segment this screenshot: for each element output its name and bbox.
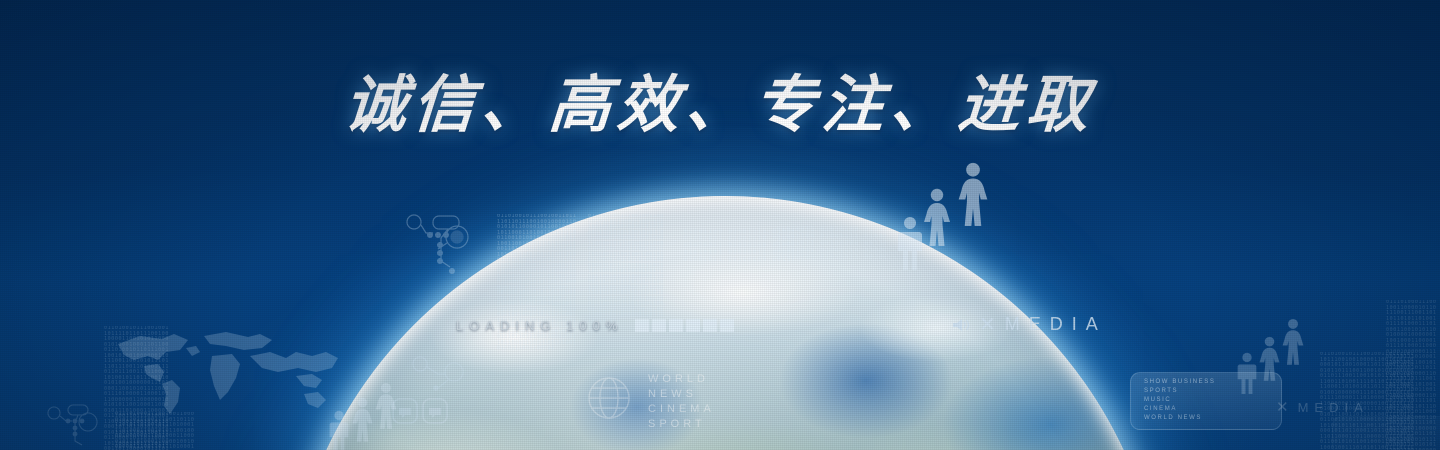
- page-title: 诚信、高效、专注、进取: [0, 54, 1440, 144]
- category-item[interactable]: SPORTS: [1144, 387, 1215, 396]
- category-item[interactable]: CINEMA: [1144, 405, 1215, 414]
- globe-overlay-text: WORLD NEWS CINEMA SPORT: [648, 372, 715, 432]
- overlay-line-news: NEWS: [648, 387, 715, 402]
- overlay-line-world: WORLD: [648, 372, 715, 387]
- world-map-silhouette: [100, 322, 350, 418]
- loading-label: LOADING 100%: [456, 318, 623, 333]
- overlay-line-sport: SPORT: [648, 417, 715, 432]
- loading-progress-bar: [635, 319, 734, 332]
- progress-segment: [669, 319, 683, 332]
- overlay-line-cinema: CINEMA: [648, 402, 715, 417]
- globe-grid-icon: [586, 375, 632, 421]
- progress-segment: [635, 319, 649, 332]
- hero-banner: 0110100101110010011011110110111001001000…: [0, 0, 1440, 450]
- category-item[interactable]: SHOW BUSINESS: [1144, 378, 1215, 387]
- progress-segment: [652, 319, 666, 332]
- category-item[interactable]: WORLD NEWS: [1144, 414, 1215, 423]
- x-mark-icon: ✕: [979, 312, 996, 337]
- loading-indicator: LOADING 100%: [456, 318, 734, 333]
- progress-segment: [703, 319, 717, 332]
- media-label: MEDIA: [1005, 314, 1107, 335]
- progress-segment: [720, 319, 734, 332]
- media-watermark: ✕ MEDIA: [952, 312, 1107, 337]
- category-list: SHOW BUSINESS SPORTS MUSIC CINEMA WORLD …: [1144, 378, 1215, 423]
- speaker-icon: [952, 317, 970, 333]
- category-item[interactable]: MUSIC: [1144, 396, 1215, 405]
- progress-segment: [686, 319, 700, 332]
